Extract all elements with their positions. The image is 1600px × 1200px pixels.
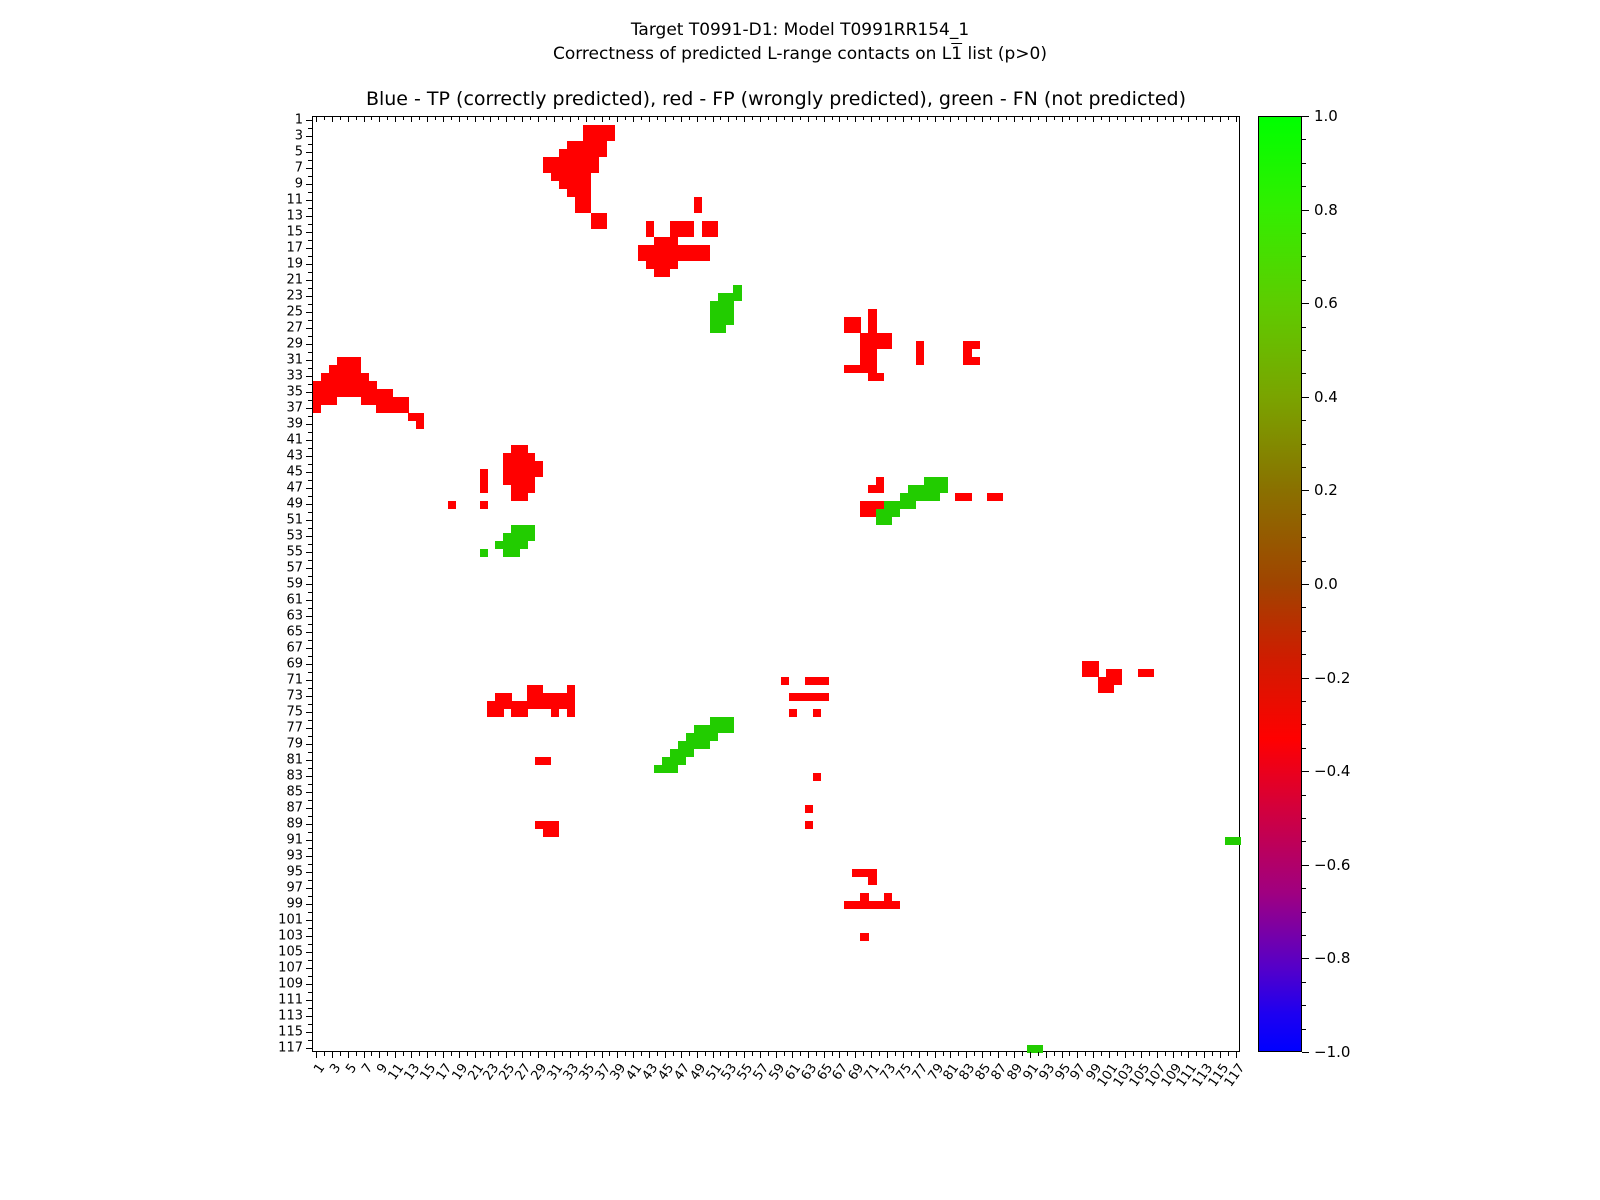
x-tick-minor	[784, 1052, 785, 1056]
x-tick-top	[387, 116, 388, 120]
x-tick-minor	[562, 1052, 563, 1056]
x-tick-top	[1101, 116, 1102, 120]
y-tick-label: 47	[286, 481, 303, 496]
x-tick-minor	[1117, 1052, 1118, 1056]
contact-cell-fp	[599, 149, 607, 157]
x-tick-top	[863, 116, 864, 120]
contact-cell-fp	[480, 485, 488, 493]
x-tick-top	[530, 116, 531, 120]
colorbar-tick-minor	[1302, 1005, 1306, 1006]
x-tick-major	[1093, 1052, 1094, 1058]
y-tick-minor	[308, 496, 312, 497]
y-tick-minor	[308, 768, 312, 769]
x-tick-top	[974, 116, 975, 120]
y-tick-major	[306, 1032, 312, 1033]
y-tick-label: 113	[278, 1009, 303, 1024]
contact-cell-fp	[551, 829, 559, 837]
x-tick-top	[498, 116, 499, 120]
x-tick-major	[411, 1052, 412, 1058]
x-tick-top	[483, 116, 484, 120]
contact-cell-fn	[940, 485, 948, 493]
y-tick-major	[306, 216, 312, 217]
colorbar-tick-label: 0.6	[1314, 294, 1338, 312]
contact-cell-fn	[725, 317, 733, 325]
x-tick-major	[427, 1052, 428, 1058]
y-tick-minor	[308, 704, 312, 705]
colorbar-tick-label: 0.2	[1314, 481, 1338, 499]
x-tick-top	[720, 116, 721, 120]
contact-map-cells	[313, 117, 1239, 1051]
x-tick-top	[1236, 116, 1237, 122]
contact-cell-fn	[686, 749, 694, 757]
x-tick-top	[602, 116, 603, 122]
x-tick-top	[459, 116, 460, 122]
contact-cell-fn	[670, 765, 678, 773]
x-tick-minor	[705, 1052, 706, 1056]
contact-cell-fp	[813, 773, 821, 781]
y-tick-minor	[308, 144, 312, 145]
x-tick-top	[943, 116, 944, 120]
x-tick-top	[340, 116, 341, 120]
y-tick-label: 13	[286, 209, 303, 224]
x-tick-minor	[1133, 1052, 1134, 1056]
colorbar-tick-minor	[1302, 561, 1306, 562]
x-tick-minor	[752, 1052, 753, 1056]
contact-cell-fp	[1114, 677, 1122, 685]
x-tick-minor	[879, 1052, 880, 1056]
y-tick-major	[306, 280, 312, 281]
x-tick-major	[443, 1052, 444, 1058]
y-tick-label: 99	[286, 897, 303, 912]
y-tick-minor	[308, 800, 312, 801]
y-tick-label: 15	[286, 225, 303, 240]
colorbar-tick-label: −0.8	[1314, 949, 1350, 967]
y-tick-major	[306, 232, 312, 233]
contact-cell-fp	[686, 229, 694, 237]
y-tick-major	[306, 536, 312, 537]
x-tick-top	[768, 116, 769, 120]
x-tick-major	[1030, 1052, 1031, 1058]
x-tick-major	[728, 1052, 729, 1058]
contact-cell-fn	[908, 501, 916, 509]
x-tick-top	[403, 116, 404, 120]
x-tick-top	[1054, 116, 1055, 120]
contact-cell-fp	[892, 901, 900, 909]
colorbar-tick-minor	[1302, 701, 1306, 702]
colorbar-tick-minor	[1302, 373, 1306, 374]
y-tick-major	[306, 824, 312, 825]
x-tick-top	[958, 116, 959, 120]
y-tick-label: 83	[286, 769, 303, 784]
x-tick-top	[1149, 116, 1150, 120]
figure-title: Target T0991-D1: Model T0991RR154_1 Corr…	[0, 18, 1600, 66]
y-tick-label: 31	[286, 353, 303, 368]
colorbar-tick-minor	[1302, 163, 1306, 164]
contact-cell-fp	[448, 501, 456, 509]
contact-map-plot[interactable]	[312, 116, 1240, 1052]
y-tick-label: 27	[286, 321, 303, 336]
y-tick-major	[306, 776, 312, 777]
y-tick-minor	[308, 240, 312, 241]
y-tick-minor	[308, 928, 312, 929]
y-tick-minor	[308, 976, 312, 977]
colorbar-tick-minor	[1302, 280, 1306, 281]
x-tick-minor	[1038, 1052, 1039, 1056]
x-tick-top	[609, 116, 610, 120]
contact-cell-fp	[567, 709, 575, 717]
contact-cell-fp	[599, 221, 607, 229]
x-tick-top	[752, 116, 753, 120]
x-tick-major	[744, 1052, 745, 1058]
y-tick-major	[306, 888, 312, 889]
x-tick-major	[506, 1052, 507, 1058]
x-tick-major	[1188, 1052, 1189, 1058]
y-tick-minor	[308, 176, 312, 177]
x-tick-top	[356, 116, 357, 120]
x-tick-top	[927, 116, 928, 120]
y-tick-label: 65	[286, 625, 303, 640]
x-tick-top	[784, 116, 785, 120]
colorbar-tick-minor	[1302, 467, 1306, 468]
x-tick-minor	[641, 1052, 642, 1056]
y-tick-major	[306, 520, 312, 521]
x-tick-major	[887, 1052, 888, 1058]
x-tick-top	[411, 116, 412, 122]
x-tick-top	[1030, 116, 1031, 122]
x-tick-top	[911, 116, 912, 120]
x-tick-minor	[974, 1052, 975, 1056]
y-tick-minor	[308, 624, 312, 625]
x-tick-top	[871, 116, 872, 122]
y-tick-minor	[308, 368, 312, 369]
colorbar-tick	[1302, 865, 1309, 866]
x-tick-top	[800, 116, 801, 120]
contact-cell-fp	[710, 229, 718, 237]
contact-cell-fp	[480, 501, 488, 509]
y-tick-minor	[308, 224, 312, 225]
y-tick-label: 3	[295, 129, 303, 144]
y-tick-major	[306, 344, 312, 345]
contact-cell-fp	[591, 165, 599, 173]
y-tick-label: 57	[286, 561, 303, 576]
x-tick-top	[673, 116, 674, 120]
x-tick-minor	[768, 1052, 769, 1056]
y-tick-label: 73	[286, 689, 303, 704]
y-tick-label: 9	[295, 177, 303, 192]
contact-cell-fp	[789, 709, 797, 717]
y-tick-major	[306, 136, 312, 137]
x-tick-top	[1038, 116, 1039, 120]
y-tick-minor	[308, 560, 312, 561]
x-tick-minor	[419, 1052, 420, 1056]
x-tick-major	[633, 1052, 634, 1058]
x-tick-minor	[657, 1052, 658, 1056]
y-tick-minor	[308, 432, 312, 433]
x-tick-major	[1157, 1052, 1158, 1058]
y-tick-label: 53	[286, 529, 303, 544]
y-tick-label: 103	[278, 929, 303, 944]
y-tick-minor	[308, 736, 312, 737]
y-tick-label: 107	[278, 961, 303, 976]
y-tick-label: 7	[295, 161, 303, 176]
x-tick-top	[490, 116, 491, 122]
y-tick-major	[306, 120, 312, 121]
contact-cell-fp	[884, 341, 892, 349]
y-tick-minor	[308, 512, 312, 513]
contact-cell-fn	[678, 757, 686, 765]
colorbar-tick-minor	[1302, 514, 1306, 515]
x-tick-major	[395, 1052, 396, 1058]
x-tick-top	[443, 116, 444, 122]
y-tick-major	[306, 648, 312, 649]
contact-cell-fp	[876, 373, 884, 381]
x-tick-label: 1	[311, 1061, 328, 1076]
contact-cell-fn	[1233, 837, 1241, 845]
y-tick-major	[306, 488, 312, 489]
x-tick-minor	[1101, 1052, 1102, 1056]
y-tick-label: 45	[286, 465, 303, 480]
colorbar-tick	[1302, 303, 1309, 304]
colorbar-tick-minor	[1302, 841, 1306, 842]
x-tick-top	[847, 116, 848, 120]
x-tick-top	[594, 116, 595, 120]
x-tick-top	[467, 116, 468, 120]
y-tick-minor	[308, 1024, 312, 1025]
y-tick-major	[306, 296, 312, 297]
contact-cell-fp	[971, 357, 979, 365]
y-tick-major	[306, 760, 312, 761]
y-tick-minor	[308, 608, 312, 609]
y-tick-label: 101	[278, 913, 303, 928]
x-tick-major	[348, 1052, 349, 1058]
contact-cell-fn	[718, 325, 726, 333]
x-tick-major	[1204, 1052, 1205, 1058]
colorbar-tick-label: 0.0	[1314, 575, 1338, 593]
colorbar-tick-minor	[1302, 139, 1306, 140]
contact-cell-fp	[805, 805, 813, 813]
y-tick-label: 109	[278, 977, 303, 992]
y-tick-label: 97	[286, 881, 303, 896]
contact-cell-fn	[710, 733, 718, 741]
contact-cell-fp	[519, 709, 527, 717]
title-line-2-pre: Correctness of predicted L-range contact…	[553, 44, 951, 64]
x-tick-top	[1173, 116, 1174, 122]
x-tick-minor	[1085, 1052, 1086, 1056]
y-tick-label: 105	[278, 945, 303, 960]
x-tick-major	[760, 1052, 761, 1058]
y-tick-major	[306, 408, 312, 409]
y-tick-label: 51	[286, 513, 303, 528]
y-tick-label: 81	[286, 753, 303, 768]
x-tick-major	[570, 1052, 571, 1058]
x-tick-top	[824, 116, 825, 122]
x-tick-top	[371, 116, 372, 120]
x-tick-major	[459, 1052, 460, 1058]
colorbar-tick-minor	[1302, 186, 1306, 187]
x-tick-top	[419, 116, 420, 120]
contact-cell-fp	[963, 493, 971, 501]
colorbar-tick	[1302, 584, 1309, 585]
y-tick-major	[306, 728, 312, 729]
y-tick-minor	[308, 688, 312, 689]
y-tick-label: 55	[286, 545, 303, 560]
x-tick-major	[1125, 1052, 1126, 1058]
contact-cell-fp	[876, 485, 884, 493]
x-tick-top	[514, 116, 515, 120]
y-tick-major	[306, 568, 312, 569]
x-tick-top	[879, 116, 880, 120]
x-tick-minor	[1165, 1052, 1166, 1056]
contact-cell-fp	[662, 269, 670, 277]
y-tick-minor	[308, 672, 312, 673]
y-tick-label: 117	[278, 1041, 303, 1056]
x-tick-minor	[371, 1052, 372, 1056]
y-tick-major	[306, 712, 312, 713]
y-tick-label: 111	[278, 993, 303, 1008]
colorbar[interactable]	[1258, 116, 1302, 1052]
y-tick-minor	[308, 336, 312, 337]
colorbar-tick	[1302, 116, 1309, 117]
y-tick-minor	[308, 416, 312, 417]
x-tick-major	[950, 1052, 951, 1058]
x-tick-minor	[1212, 1052, 1213, 1056]
y-tick-minor	[308, 752, 312, 753]
x-tick-major	[1236, 1052, 1237, 1058]
y-tick-major	[306, 1048, 312, 1049]
contact-cell-fn	[702, 741, 710, 749]
y-tick-minor	[308, 400, 312, 401]
x-tick-minor	[467, 1052, 468, 1056]
y-tick-minor	[308, 944, 312, 945]
y-tick-label: 93	[286, 849, 303, 864]
y-tick-minor	[308, 864, 312, 865]
y-tick-label: 41	[286, 433, 303, 448]
x-tick-major	[697, 1052, 698, 1058]
x-tick-top	[332, 116, 333, 122]
x-tick-top	[1181, 116, 1182, 120]
x-tick-minor	[832, 1052, 833, 1056]
contact-cell-fp	[868, 309, 876, 317]
x-tick-label: 3	[327, 1061, 344, 1076]
colorbar-tick-minor	[1302, 350, 1306, 351]
y-tick-label: 1	[295, 113, 303, 128]
x-tick-major	[1109, 1052, 1110, 1058]
x-tick-minor	[625, 1052, 626, 1056]
y-tick-minor	[308, 896, 312, 897]
x-tick-top	[760, 116, 761, 122]
colorbar-tick-minor	[1302, 607, 1306, 608]
y-tick-label: 77	[286, 721, 303, 736]
y-tick-minor	[308, 160, 312, 161]
x-tick-major	[1173, 1052, 1174, 1058]
contact-cell-fn	[527, 533, 535, 541]
x-tick-top	[697, 116, 698, 122]
x-tick-top	[562, 116, 563, 120]
x-tick-top	[324, 116, 325, 120]
x-tick-major	[364, 1052, 365, 1058]
y-tick-minor	[308, 304, 312, 305]
y-tick-minor	[308, 384, 312, 385]
x-tick-major	[839, 1052, 840, 1058]
x-tick-top	[364, 116, 365, 122]
x-tick-top	[792, 116, 793, 122]
x-tick-minor	[1069, 1052, 1070, 1056]
y-tick-major	[306, 312, 312, 313]
x-tick-minor	[800, 1052, 801, 1056]
x-tick-top	[1006, 116, 1007, 120]
x-tick-top	[935, 116, 936, 122]
x-tick-major	[1014, 1052, 1015, 1058]
y-tick-major	[306, 680, 312, 681]
y-tick-label: 19	[286, 257, 303, 272]
y-tick-label: 89	[286, 817, 303, 832]
colorbar-tick-minor	[1302, 444, 1306, 445]
x-tick-minor	[483, 1052, 484, 1056]
title-line-2-post: list (p>0)	[962, 44, 1047, 64]
x-tick-major	[792, 1052, 793, 1058]
colorbar-tick-minor	[1302, 233, 1306, 234]
y-tick-major	[306, 664, 312, 665]
x-tick-top	[522, 116, 523, 122]
contact-cell-fp	[535, 469, 543, 477]
colorbar-tick-label: −1.0	[1314, 1043, 1350, 1061]
y-tick-label: 69	[286, 657, 303, 672]
contact-cell-fp	[1146, 669, 1154, 677]
y-tick-label: 59	[286, 577, 303, 592]
contact-cell-fp	[329, 397, 337, 405]
y-tick-major	[306, 440, 312, 441]
x-tick-top	[808, 116, 809, 122]
y-tick-minor	[308, 464, 312, 465]
contact-cell-fp	[821, 677, 829, 685]
y-tick-label: 75	[286, 705, 303, 720]
x-tick-major	[966, 1052, 967, 1058]
x-tick-minor	[895, 1052, 896, 1056]
y-tick-label: 25	[286, 305, 303, 320]
x-tick-minor	[673, 1052, 674, 1056]
y-tick-minor	[308, 592, 312, 593]
y-tick-minor	[308, 832, 312, 833]
contact-cell-fp	[868, 877, 876, 885]
x-tick-top	[1133, 116, 1134, 120]
x-tick-major	[332, 1052, 333, 1058]
y-tick-minor	[308, 960, 312, 961]
x-tick-major	[824, 1052, 825, 1058]
contact-cell-fp	[916, 357, 924, 365]
x-tick-major	[1220, 1052, 1221, 1058]
x-tick-top	[665, 116, 666, 122]
x-tick-major	[855, 1052, 856, 1058]
contact-cell-fn	[733, 293, 741, 301]
contact-cell-fn	[511, 549, 519, 557]
x-tick-top	[395, 116, 396, 122]
y-tick-major	[306, 696, 312, 697]
x-tick-top	[546, 116, 547, 120]
contact-cell-fp	[694, 205, 702, 213]
y-tick-minor	[308, 912, 312, 913]
colorbar-tick-minor	[1302, 935, 1306, 936]
colorbar-tick	[1302, 210, 1309, 211]
title-line-2-overline: 1	[951, 44, 962, 64]
x-tick-top	[1157, 116, 1158, 122]
y-tick-minor	[308, 816, 312, 817]
colorbar-tick-minor	[1302, 1029, 1306, 1030]
x-tick-minor	[356, 1052, 357, 1056]
y-tick-label: 37	[286, 401, 303, 416]
y-tick-major	[306, 744, 312, 745]
x-tick-top	[1117, 116, 1118, 120]
x-tick-top	[427, 116, 428, 122]
